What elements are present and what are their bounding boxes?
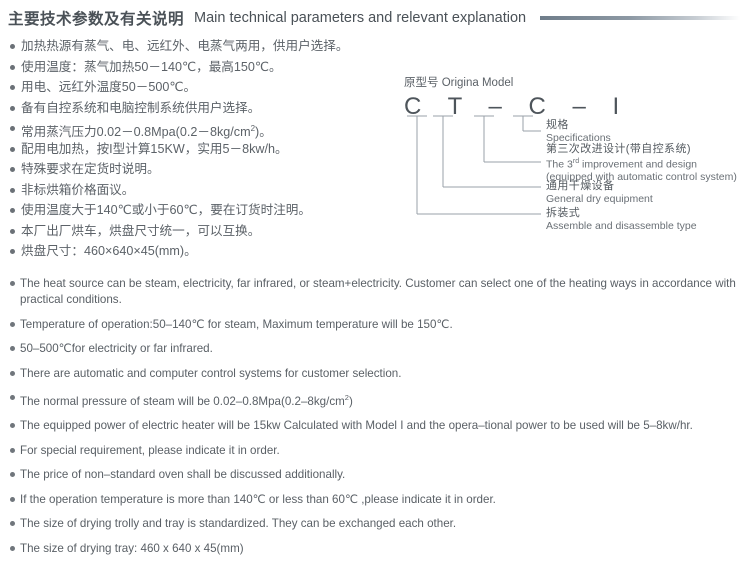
- list-item: If the operation temperature is more tha…: [10, 492, 742, 508]
- list-item-label: There are automatic and computer control…: [20, 366, 742, 382]
- list-item-label: The size of drying tray: 460 x 640 x 45(…: [20, 541, 742, 557]
- bullet-dot-icon: [10, 497, 15, 502]
- list-item: The heat source can be steam, electricit…: [10, 276, 742, 308]
- list-item-label: 使用温度：蒸气加热50－140℃，最高150℃。: [21, 59, 282, 76]
- list-item-label: The equipped power of electric heater wi…: [20, 418, 742, 434]
- english-notes-list: The heat source can be steam, electricit…: [10, 276, 742, 565]
- bullet-dot-icon: [10, 322, 15, 327]
- bullet-dot-icon: [10, 521, 15, 526]
- list-item-label: 备有自控系统和电脑控制系统供用户选择。: [21, 100, 260, 117]
- bullet-dot-icon: [10, 85, 15, 90]
- list-item: 加热热源有蒸气、电、远红外、电蒸气两用，供用户选择。: [10, 38, 400, 59]
- callout-label-cn: 通用干燥设备: [546, 180, 653, 193]
- list-item: 非标烘箱价格面议。: [10, 182, 400, 203]
- bullet-dot-icon: [10, 106, 15, 111]
- list-item-label: Temperature of operation:50–140℃ for ste…: [20, 317, 742, 333]
- list-item: 备有自控系统和电脑控制系统供用户选择。: [10, 100, 400, 121]
- list-item-label: 用电、远红外温度50－500℃。: [21, 79, 196, 96]
- list-item: 使用温度大于140℃或小于60℃，要在订货时注明。: [10, 202, 400, 223]
- page-title-english: Main technical parameters and relevant e…: [194, 10, 526, 26]
- bullet-dot-icon: [10, 65, 15, 70]
- list-item: 烘盘尺寸：460×640×45(mm)。: [10, 243, 400, 264]
- list-item-label: The heat source can be steam, electricit…: [20, 276, 742, 308]
- list-item: 用电、远红外温度50－500℃。: [10, 79, 400, 100]
- header-gradient-rule: [540, 16, 740, 20]
- callout-specifications: 规格 Specifications: [546, 119, 611, 145]
- bullet-dot-icon: [10, 395, 15, 400]
- bullet-dot-icon: [10, 167, 15, 172]
- list-item: 本厂出厂烘车，烘盘尺寸统一，可以互换。: [10, 223, 400, 244]
- callout-general-dry-equipment: 通用干燥设备 General dry equipment: [546, 180, 653, 206]
- bullet-dot-icon: [10, 208, 15, 213]
- list-item: 特殊要求在定货时说明。: [10, 161, 400, 182]
- list-item: 配用电加热，按I型计算15KW，实用5－8kw/h。: [10, 141, 400, 162]
- list-item: For special requirement, please indicate…: [10, 443, 742, 459]
- bullet-dot-icon: [10, 423, 15, 428]
- bullet-dot-icon: [10, 371, 15, 376]
- list-item-label: 本厂出厂烘车，烘盘尺寸统一，可以互换。: [21, 223, 260, 240]
- chinese-notes-list: 加热热源有蒸气、电、远红外、电蒸气两用，供用户选择。 使用温度：蒸气加热50－1…: [10, 38, 400, 264]
- list-item-label: The size of drying trolly and tray is st…: [20, 516, 742, 532]
- callout-label-cn: 拆装式: [546, 207, 697, 220]
- list-item: The price of non–standard oven shall be …: [10, 467, 742, 483]
- list-item: 使用温度：蒸气加热50－140℃，最高150℃。: [10, 59, 400, 80]
- list-item-label: If the operation temperature is more tha…: [20, 492, 742, 508]
- list-item-label: The normal pressure of steam will be 0.0…: [20, 390, 742, 410]
- list-item: Temperature of operation:50–140℃ for ste…: [10, 317, 742, 333]
- list-item: The equipped power of electric heater wi…: [10, 418, 742, 434]
- callout-label-en: Assemble and disassemble type: [546, 220, 697, 233]
- bullet-dot-icon: [10, 44, 15, 49]
- page-header: 主要技术参数及有关说明 Main technical parameters an…: [8, 4, 742, 32]
- callout-label-cn: 规格: [546, 119, 611, 132]
- list-item: The size of drying tray: 460 x 640 x 45(…: [10, 541, 742, 557]
- callout-label-cn: 第三次改进设计(带自控系统): [546, 143, 737, 156]
- list-item: There are automatic and computer control…: [10, 366, 742, 382]
- list-item-label: 常用蒸汽压力0.02－0.8Mpa(0.2－8kg/cm2)。: [21, 120, 272, 141]
- bullet-dot-icon: [10, 249, 15, 254]
- list-item: The size of drying trolly and tray is st…: [10, 516, 742, 532]
- bullet-dot-icon: [10, 281, 15, 286]
- bullet-dot-icon: [10, 188, 15, 193]
- bullet-dot-icon: [10, 126, 15, 131]
- list-item-label: 配用电加热，按I型计算15KW，实用5－8kw/h。: [21, 141, 288, 158]
- bullet-dot-icon: [10, 546, 15, 551]
- list-item: 50–500℃for electricity or far infrared.: [10, 341, 742, 357]
- list-item-label: 加热热源有蒸气、电、远红外、电蒸气两用，供用户选择。: [21, 38, 348, 55]
- bullet-dot-icon: [10, 147, 15, 152]
- callout-label-en: General dry equipment: [546, 193, 653, 206]
- page-title-chinese: 主要技术参数及有关说明: [8, 7, 184, 29]
- callout-assemble-type: 拆装式 Assemble and disassemble type: [546, 207, 697, 233]
- list-item-label: 使用温度大于140℃或小于60℃，要在订货时注明。: [21, 202, 311, 219]
- list-item-label: The price of non–standard oven shall be …: [20, 467, 742, 483]
- list-item: 常用蒸汽压力0.02－0.8Mpa(0.2－8kg/cm2)。: [10, 120, 400, 141]
- bullet-dot-icon: [10, 346, 15, 351]
- model-code-diagram: 原型号 Origina Model C T – C – I 规格 Speci: [400, 74, 748, 234]
- list-item-label: 50–500℃for electricity or far infrared.: [20, 341, 742, 357]
- bullet-dot-icon: [10, 229, 15, 234]
- list-item-label: 非标烘箱价格面议。: [21, 182, 134, 199]
- bullet-dot-icon: [10, 472, 15, 477]
- list-item-label: 特殊要求在定货时说明。: [21, 161, 160, 178]
- list-item-label: For special requirement, please indicate…: [20, 443, 742, 459]
- bullet-dot-icon: [10, 448, 15, 453]
- list-item: The normal pressure of steam will be 0.0…: [10, 390, 742, 410]
- callout-label-en: The 3rd improvement and design: [546, 156, 737, 171]
- callout-third-improvement: 第三次改进设计(带自控系统) The 3rd improvement and d…: [546, 143, 737, 184]
- list-item-label: 烘盘尺寸：460×640×45(mm)。: [21, 243, 197, 260]
